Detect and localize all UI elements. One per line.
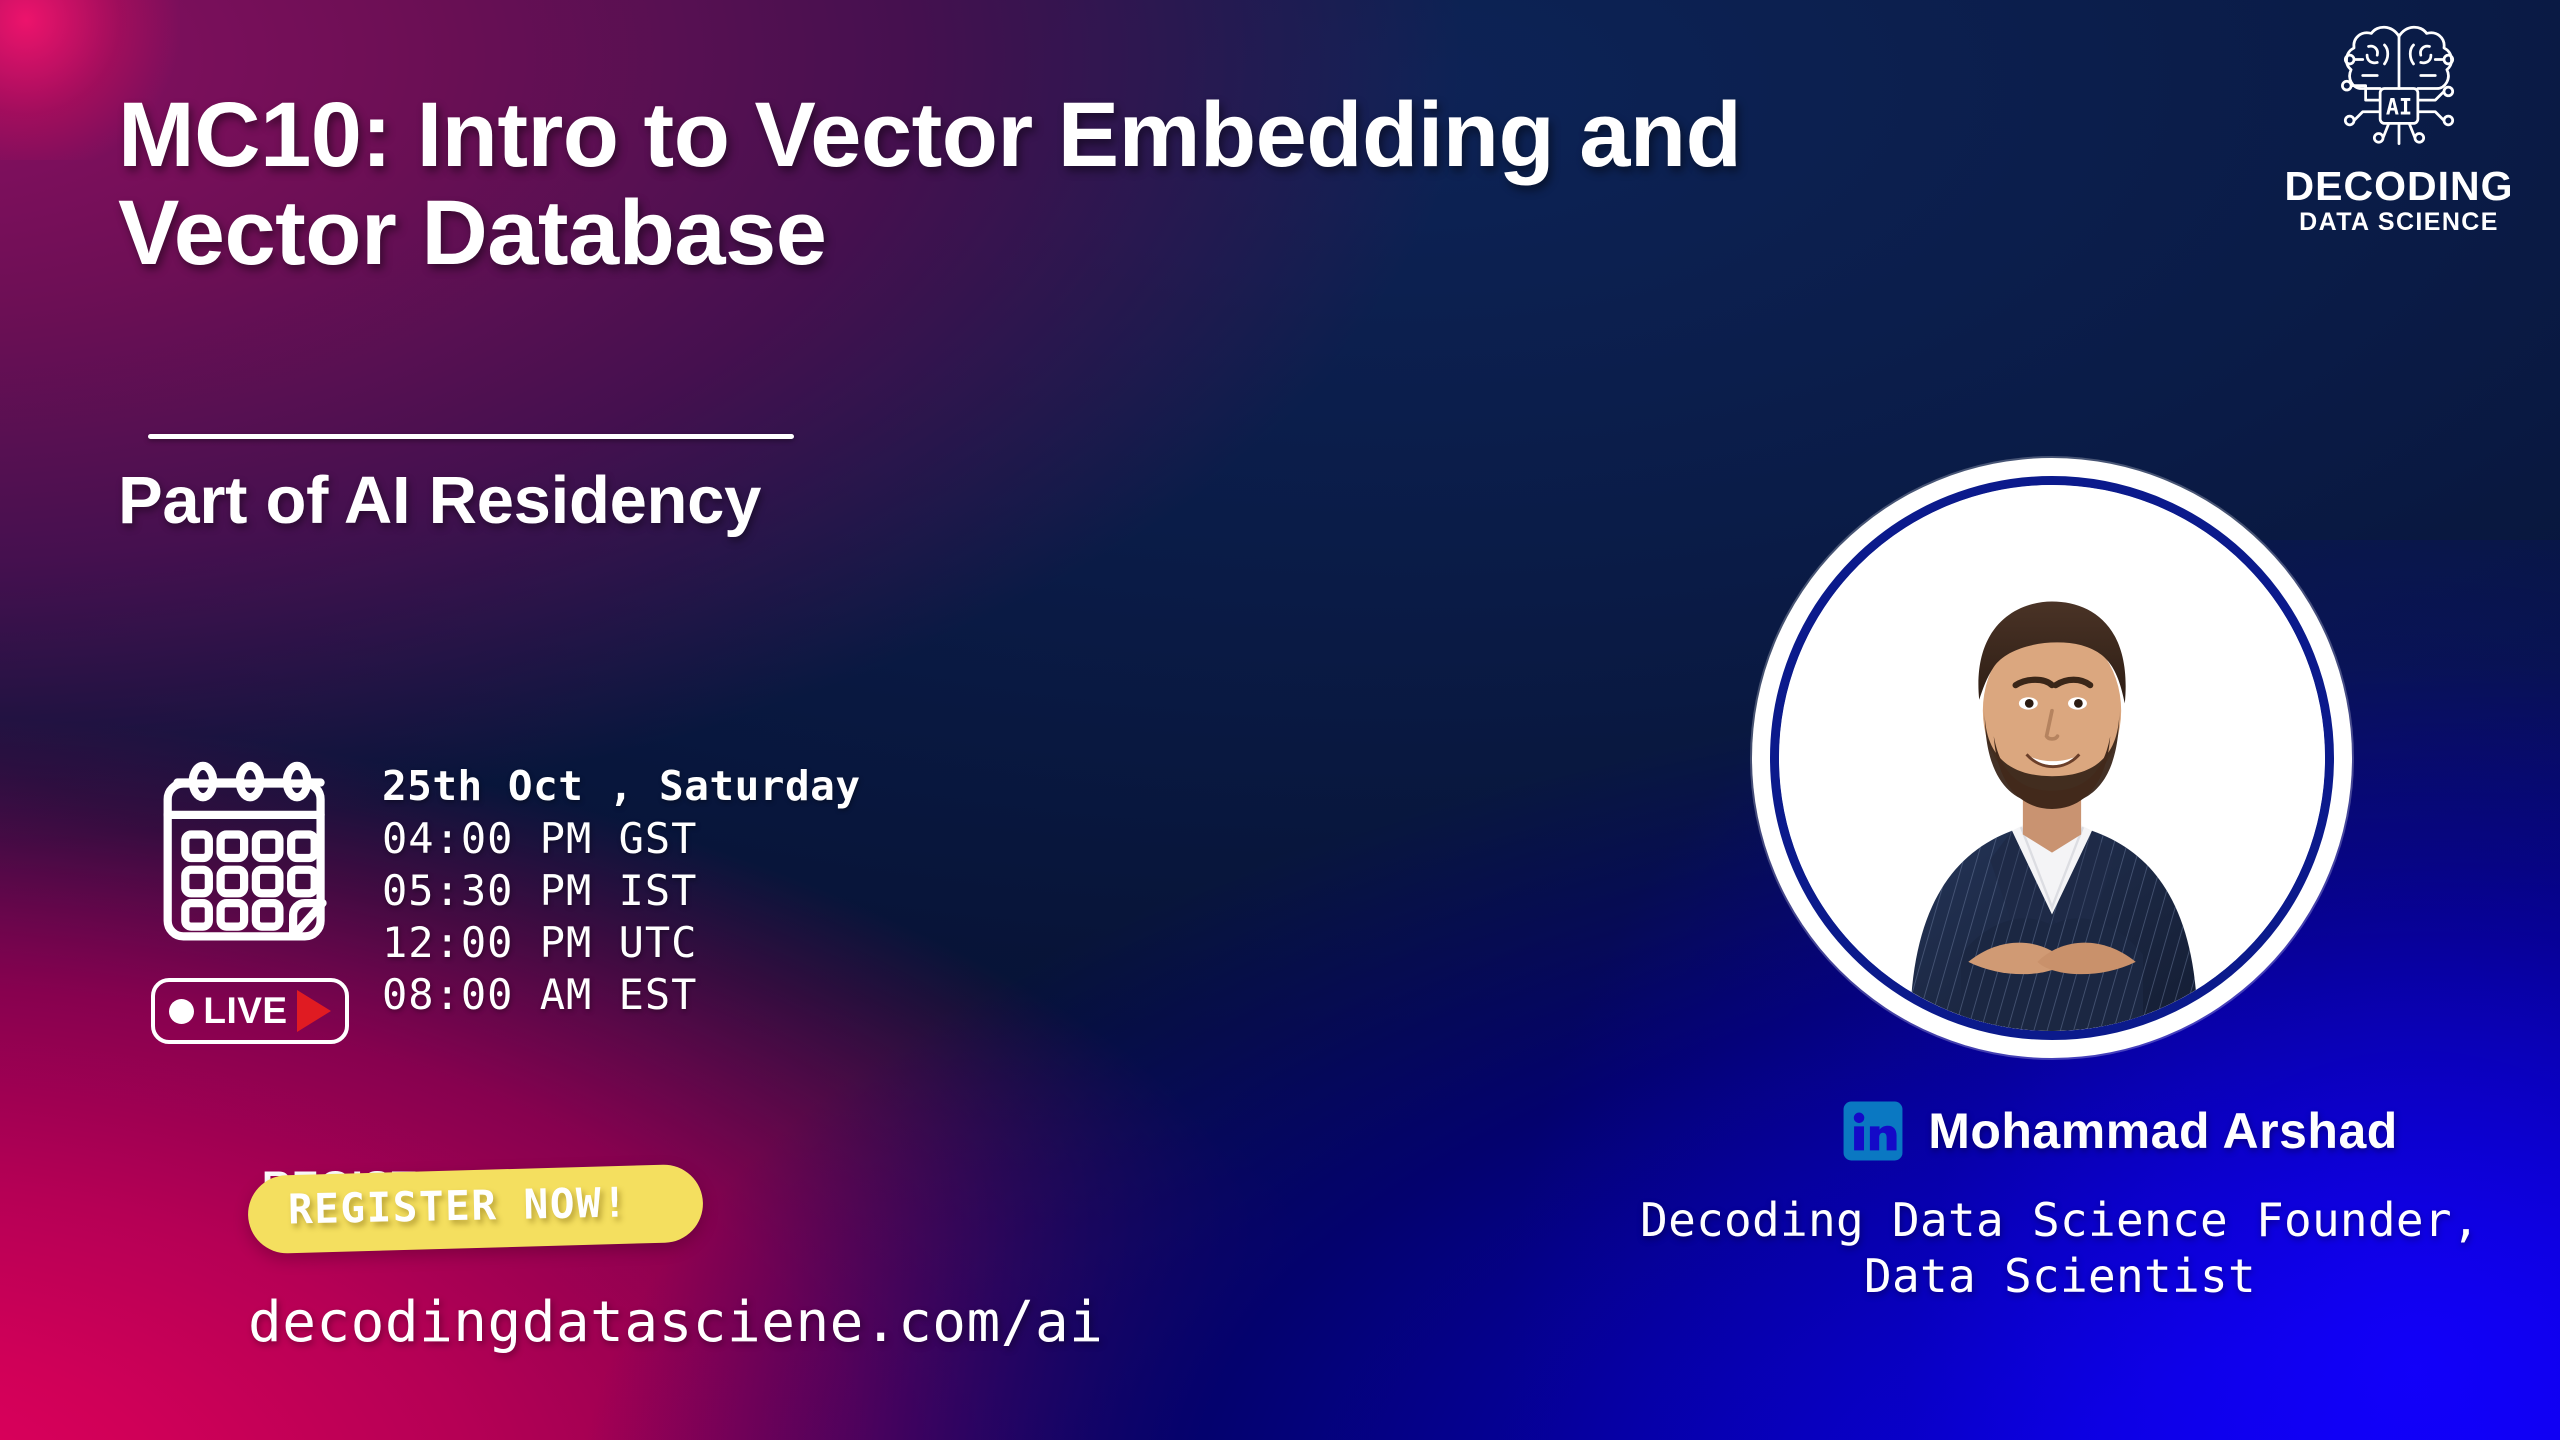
speaker-name: Mohammad Arshad	[1928, 1102, 2398, 1160]
schedule-icons: LIVE	[150, 760, 350, 1044]
page-title: MC10: Intro to Vector Embedding and Vect…	[118, 86, 2198, 283]
speaker-role: Decoding Data Science Founder, Data Scie…	[1560, 1192, 2560, 1304]
speaker-role-line-1: Decoding Data Science Founder,	[1640, 1193, 2480, 1247]
speaker-portrait-frame	[1752, 458, 2352, 1058]
schedule-block: LIVE 25th Oct , Saturday 04:00 PM GST 05…	[150, 760, 861, 1044]
speaker-photo	[1779, 485, 2325, 1031]
logo-chip-label: AI	[2386, 96, 2412, 121]
event-time-utc: 12:00 PM UTC	[382, 921, 861, 965]
brand-logo: AI DECODING DATA SCIENCE	[2274, 16, 2524, 237]
calendar-icon	[150, 760, 350, 956]
event-time-gst: 04:00 PM GST	[382, 817, 861, 861]
title-line-1: MC10: Intro to Vector Embedding and	[118, 84, 1741, 186]
speaker-role-line-2: Data Scientist	[1864, 1249, 2256, 1303]
logo-name-line-1: DECODING	[2274, 166, 2524, 207]
website-url[interactable]: decodingdatasciene.com/ai	[248, 1290, 1103, 1355]
ai-brain-circuit-icon: AI	[2319, 16, 2479, 164]
title-divider	[148, 434, 794, 439]
live-label: LIVE	[203, 990, 287, 1032]
play-triangle-icon	[297, 990, 331, 1032]
event-date: 25th Oct , Saturday	[382, 762, 861, 810]
live-dot-icon	[169, 999, 194, 1024]
title-line-2: Vector Database	[118, 184, 2198, 282]
page-subtitle: Part of AI Residency	[118, 462, 761, 539]
event-time-est: 08:00 AM EST	[382, 973, 861, 1017]
speaker-name-row: Mohammad Arshad	[1690, 1100, 2550, 1162]
live-badge: LIVE	[151, 978, 349, 1044]
logo-name-line-2: DATA SCIENCE	[2274, 207, 2524, 237]
linkedin-icon[interactable]	[1842, 1100, 1904, 1162]
speaker-portrait-inner-ring	[1770, 476, 2334, 1040]
register-cta[interactable]: REGISTER NOW! REGISTER NOW!	[240, 1152, 740, 1262]
webinar-poster: MC10: Intro to Vector Embedding and Vect…	[0, 0, 2560, 1440]
register-button-label[interactable]: REGISTER NOW!	[288, 1178, 629, 1233]
schedule-text: 25th Oct , Saturday 04:00 PM GST 05:30 P…	[382, 760, 861, 1044]
event-time-ist: 05:30 PM IST	[382, 869, 861, 913]
